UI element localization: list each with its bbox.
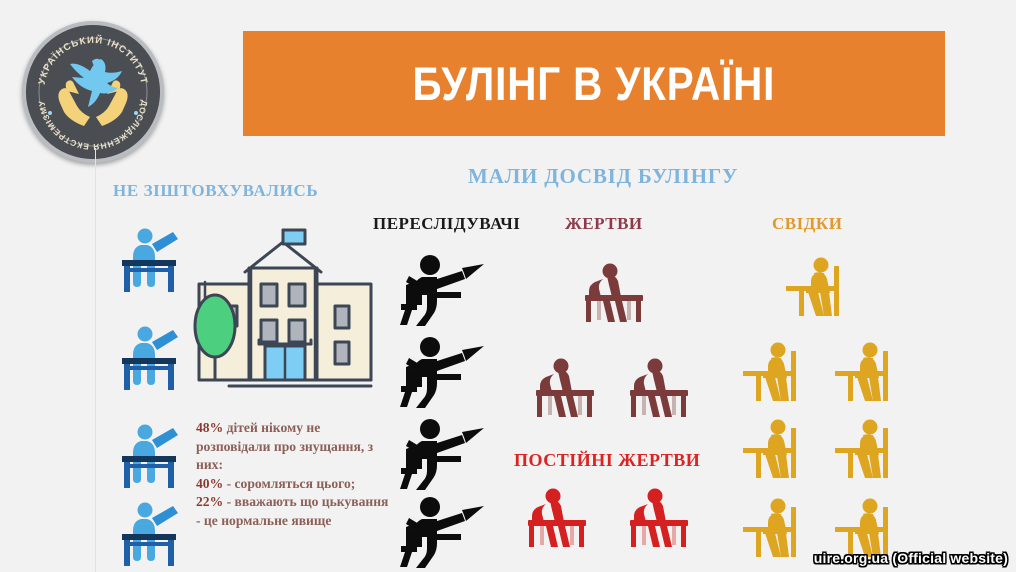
stat-line2-text: - соромляться цього;	[223, 476, 355, 491]
bully-throwing-paper-plane-icon	[398, 494, 484, 570]
witness-seated-at-desk-icon	[833, 418, 899, 480]
heading-victims: ЖЕРТВИ	[565, 214, 643, 234]
watermark-text: uire.org.ua (Official website)	[814, 550, 1008, 566]
witness-seated-at-desk-icon	[741, 418, 807, 480]
witness-seated-at-desk-icon	[741, 341, 807, 403]
bully-throwing-paper-plane-icon	[398, 334, 484, 410]
constant-victim-icon	[526, 487, 590, 549]
student-raising-hand-icon	[112, 224, 184, 296]
student-raising-hand-icon	[112, 498, 184, 570]
stat-22-percent: 22%	[196, 494, 223, 509]
witness-seated-at-desk-icon	[741, 497, 807, 559]
student-raising-hand-icon	[112, 322, 184, 394]
stat-line3-text: - вважають що цькування - це нормальне я…	[196, 494, 388, 528]
victim-head-in-hands-icon	[534, 357, 598, 419]
infographic-slide: УКРАЇНСЬКИЙ ІНСТИТУТ ДОСЛІДЖЕННЯ ЕКСТРЕМ…	[0, 0, 1016, 572]
stat-48-percent: 48%	[196, 420, 223, 435]
uire-seal-logo: УКРАЇНСЬКИЙ ІНСТИТУТ ДОСЛІДЖЕННЯ ЕКСТРЕМ…	[22, 21, 164, 163]
bully-throwing-paper-plane-icon	[398, 416, 484, 492]
stat-line1-text: дітей нікому не розповідали про знущання…	[196, 420, 373, 472]
victim-head-in-hands-icon	[628, 357, 692, 419]
witness-seated-at-desk-icon	[784, 256, 850, 318]
heading-experienced-bullying: МАЛИ ДОСВІД БУЛІНГУ	[468, 164, 738, 189]
heading-constant-victims: ПОСТІЙНІ ЖЕРТВИ	[514, 450, 700, 471]
statistics-text-block: 48% дітей нікому не розповідали про знущ…	[196, 419, 394, 530]
bully-throwing-paper-plane-icon	[398, 252, 484, 328]
heading-not-faced: НЕ ЗІШТОВХУВАЛИСЬ	[113, 181, 318, 201]
school-building-illustration	[193, 228, 375, 408]
heading-witnesses: СВІДКИ	[772, 214, 842, 234]
student-raising-hand-icon	[112, 420, 184, 492]
vertical-divider	[95, 148, 96, 572]
constant-victim-icon	[628, 487, 692, 549]
stat-40-percent: 40%	[196, 476, 223, 491]
witness-seated-at-desk-icon	[833, 341, 899, 403]
heading-perpetrators: ПЕРЕСЛІДУВАЧІ	[373, 214, 520, 234]
page-title: БУЛІНГ В УКРАЇНІ	[413, 56, 776, 111]
victim-head-in-hands-icon	[583, 262, 647, 324]
title-banner: БУЛІНГ В УКРАЇНІ	[243, 31, 945, 136]
